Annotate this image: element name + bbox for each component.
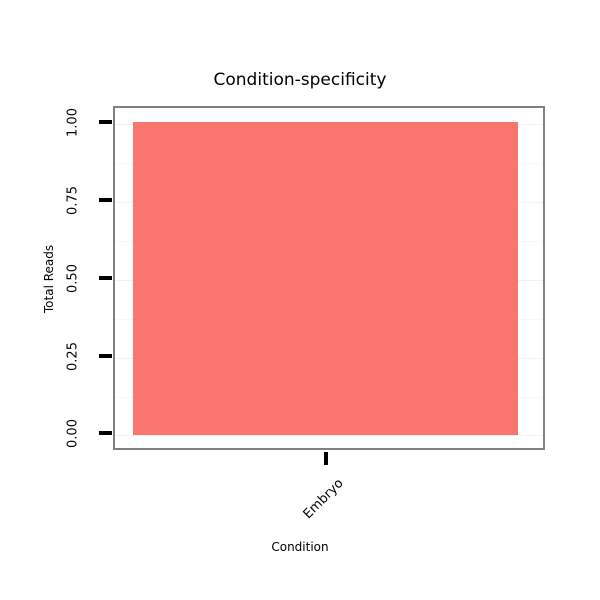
x-axis-title: Condition — [0, 540, 600, 554]
y-tick-mark — [99, 354, 112, 358]
y-tick-mark — [99, 276, 112, 280]
y-tick-mark — [99, 120, 112, 124]
gridline-major — [115, 435, 543, 436]
chart-title: Condition-specificity — [0, 70, 600, 90]
y-tick-label: 0.25 — [66, 335, 81, 379]
y-axis-title: Total Reads — [42, 224, 56, 334]
x-tick-mark — [324, 452, 328, 465]
y-tick-mark — [99, 198, 112, 202]
y-tick-label: 1.00 — [66, 101, 81, 145]
y-tick-label: 0.00 — [66, 412, 81, 456]
y-tick-label: 0.75 — [66, 179, 81, 223]
plot-panel — [113, 106, 545, 450]
y-tick-mark — [99, 431, 112, 435]
chart-canvas: Condition-specificity Total Reads 1.00 0… — [0, 0, 600, 600]
plot-panel-inner — [115, 108, 543, 448]
bar-embryo[interactable] — [133, 122, 518, 435]
y-tick-label: 0.50 — [66, 257, 81, 301]
x-tick-label-embryo: Embryo — [287, 476, 347, 536]
